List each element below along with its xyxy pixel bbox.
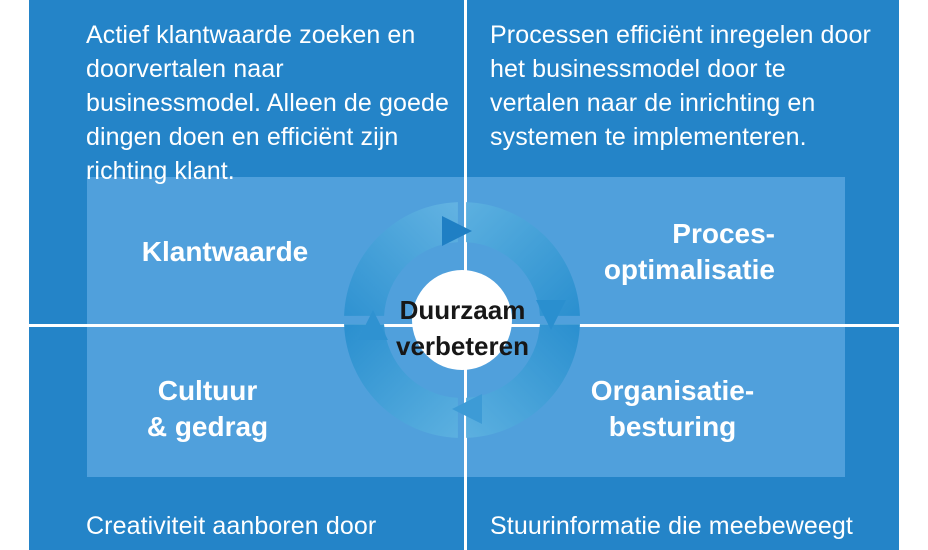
description-proces-optimalisatie: Processen efficiënt inregelen door het b… bbox=[490, 18, 880, 154]
quadrant-label-organisatiebesturing: Organisatie- besturing bbox=[570, 373, 775, 445]
quadrant-label-proces-optimalisatie: Proces- optimalisatie bbox=[580, 216, 775, 288]
center-hub-label: Duurzaam verbeteren bbox=[370, 292, 555, 364]
description-klantwaarde: Actief klantwaarde zoeken en doorvertale… bbox=[86, 18, 456, 188]
diagram-canvas: Actief klantwaarde zoeken en doorvertale… bbox=[0, 0, 928, 550]
quadrant-label-cultuur-gedrag: Cultuur & gedrag bbox=[120, 373, 295, 445]
description-cultuur-gedrag: Creativiteit aanboren door nieuwe bbox=[86, 509, 456, 550]
description-organisatiebesturing: Stuurinformatie die meebeweegt bbox=[490, 509, 880, 543]
quadrant-label-klantwaarde: Klantwaarde bbox=[110, 234, 340, 270]
